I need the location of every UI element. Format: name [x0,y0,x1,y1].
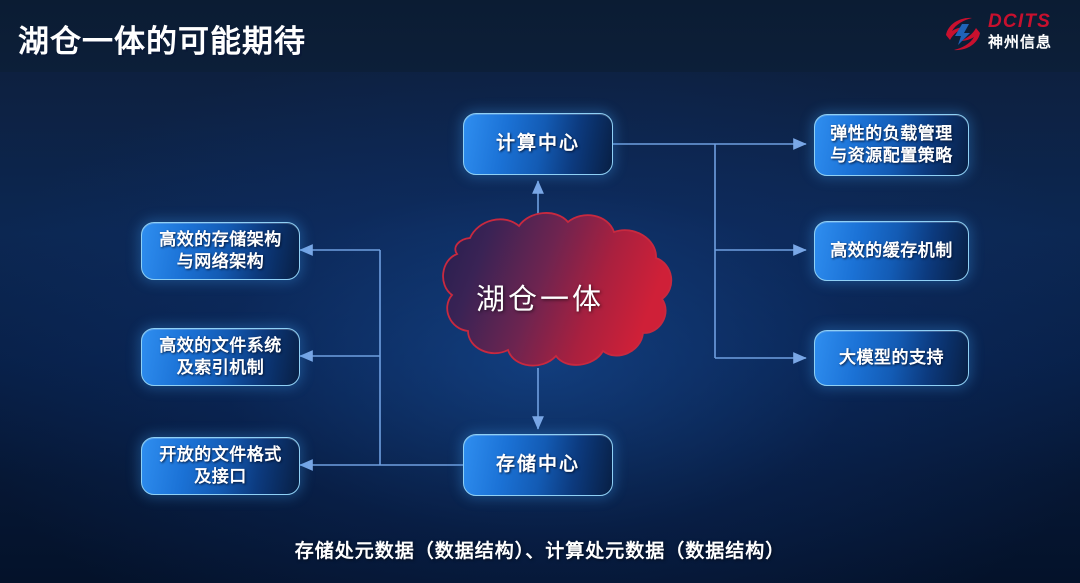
node-storage-network-arch[interactable]: 高效的存储架构与网络架构 [141,222,300,280]
slide-caption: 存储处元数据（数据结构）、计算处元数据（数据结构） [0,536,1080,563]
cloud-label: 湖仓一体 [405,212,675,382]
node-file-system-index[interactable]: 高效的文件系统及索引机制 [141,328,300,386]
cloud-center-node: 湖仓一体 [405,212,675,382]
slide-canvas: 湖仓一体的可能期待 DCITS 神州信息 [0,0,1080,583]
node-open-file-format[interactable]: 开放的文件格式及接口 [141,437,300,495]
node-storage-center[interactable]: 存储中心 [463,434,613,496]
node-large-model-support[interactable]: 大模型的支持 [814,330,969,386]
node-compute-center[interactable]: 计算中心 [463,113,613,175]
node-efficient-cache[interactable]: 高效的缓存机制 [814,221,969,281]
node-elastic-workload[interactable]: 弹性的负载管理与资源配置策略 [814,114,969,176]
